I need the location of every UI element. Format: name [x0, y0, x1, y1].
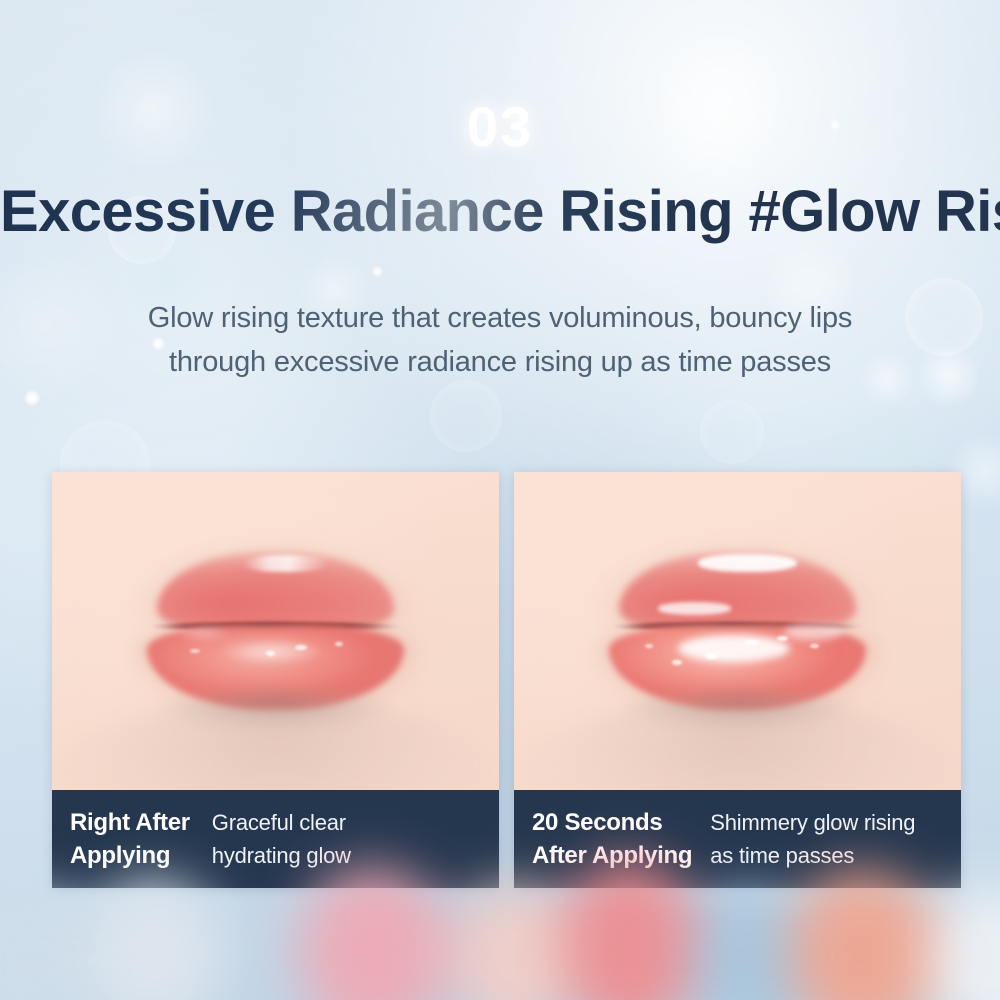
- card-caption-right-after-applying: Right After Applying Graceful clear hydr…: [52, 790, 499, 888]
- gloss-highlight: [810, 644, 819, 648]
- gloss-highlight: [744, 640, 760, 645]
- card-caption-twenty-seconds-after-applying: 20 Seconds After Applying Shimmery glow …: [514, 790, 961, 888]
- gloss-highlight: [672, 660, 682, 665]
- gloss-highlight: [645, 644, 653, 648]
- gloss-highlight: [335, 642, 343, 646]
- blurred-product: [455, 884, 575, 1000]
- caption-description: Shimmery glow rising as time passes: [710, 806, 915, 872]
- caption-title: 20 Seconds After Applying: [532, 806, 692, 872]
- blurred-product: [90, 880, 220, 1000]
- under-lip-shadow: [625, 692, 849, 728]
- blurred-product: [690, 890, 810, 1000]
- promo-banner: 03 Excessive Radiance Rising #Glow Risin…: [0, 0, 1000, 1000]
- comparison-card-group: Right After Applying Graceful clear hydr…: [52, 472, 961, 888]
- blurred-product: [930, 886, 1000, 1000]
- gloss-highlight: [678, 635, 790, 662]
- comparison-card-twenty-seconds-after-applying[interactable]: 20 Seconds After Applying Shimmery glow …: [514, 472, 961, 888]
- gloss-highlight: [243, 555, 329, 571]
- under-lip-shadow: [163, 692, 387, 728]
- bokeh-circle: [700, 400, 764, 464]
- bokeh-dot: [24, 390, 40, 406]
- subtitle-line-1: Glow rising texture that creates volumin…: [0, 296, 1000, 340]
- lips-illustration: [573, 541, 903, 721]
- gloss-highlight: [698, 554, 797, 572]
- comparison-card-right-after-applying[interactable]: Right After Applying Graceful clear hydr…: [52, 472, 499, 888]
- gloss-highlight: [705, 653, 718, 659]
- gloss-highlight: [266, 651, 275, 656]
- caption-title: Right After Applying: [70, 806, 190, 872]
- gloss-highlight: [658, 602, 731, 615]
- lips-illustration: [111, 541, 441, 721]
- page-subtitle: Glow rising texture that creates volumin…: [0, 296, 1000, 384]
- lip-photo-right-after-applying: [52, 472, 499, 790]
- caption-description: Graceful clear hydrating glow: [212, 806, 351, 872]
- step-number: 03: [0, 94, 1000, 159]
- bokeh-circle: [430, 380, 502, 452]
- gloss-highlight: [177, 626, 230, 640]
- subtitle-line-2: through excessive radiance rising up as …: [0, 340, 1000, 384]
- lip-photo-twenty-seconds-after-applying: [514, 472, 961, 790]
- gloss-highlight: [784, 624, 843, 640]
- bokeh-dot: [372, 266, 383, 277]
- blurred-product: [0, 890, 100, 1000]
- page-title: Excessive Radiance Rising #Glow Rising: [0, 178, 1000, 245]
- blurred-product: [790, 870, 940, 1000]
